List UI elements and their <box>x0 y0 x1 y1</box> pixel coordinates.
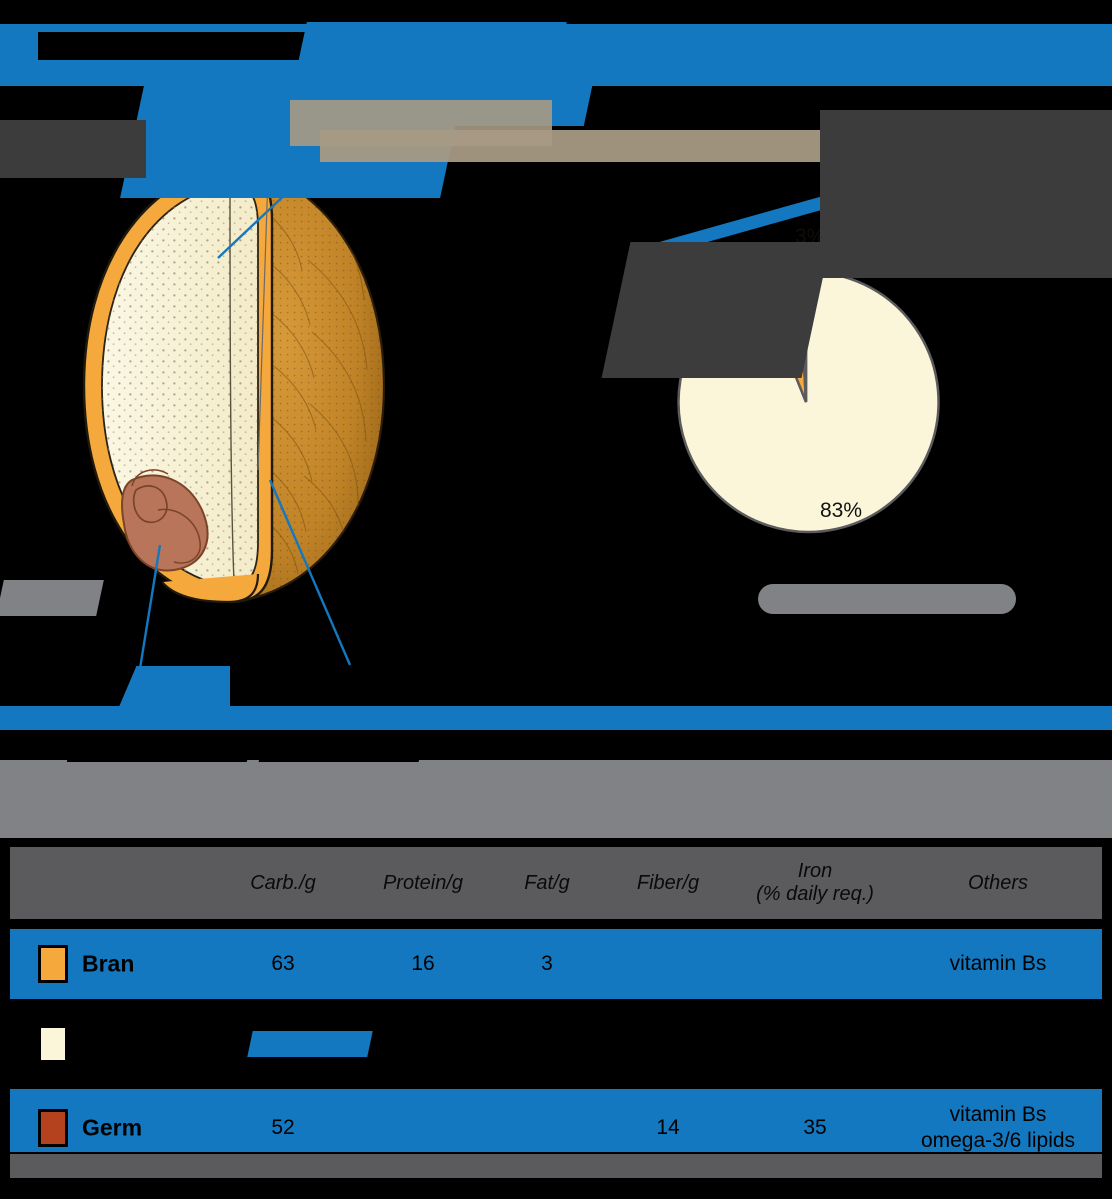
redaction-left-dark <box>0 120 146 178</box>
nutrition-table: Carb./g Protein/g Fat/g Fiber/g Iron (% … <box>8 845 1104 1169</box>
row-label-endosperm: Endosperm <box>82 1031 209 1058</box>
redaction-top-left-text <box>38 32 306 60</box>
table-row[interactable]: Bran 63 16 3 vitamin Bs <box>8 927 1104 1001</box>
column-header-others: Others <box>890 847 1106 919</box>
cell-bran-protein: 16 <box>348 929 498 999</box>
redaction-pie-caption-gray <box>758 584 1016 614</box>
cell-bran-others: vitamin Bs <box>890 951 1106 977</box>
cell-endosperm-protein: 7 <box>348 1009 498 1079</box>
cell-germ-others: vitamin Bs omega-3/6 lipids <box>890 1102 1106 1155</box>
cell-bran-fat: 3 <box>482 929 612 999</box>
legend-swatch-endosperm <box>38 1025 68 1063</box>
pie-label-endosperm: 83% <box>820 499 862 523</box>
redaction-caption-right-text <box>259 730 426 762</box>
legend-swatch-bran <box>38 945 68 983</box>
column-header-protein: Protein/g <box>348 847 498 919</box>
column-header-carb: Carb./g <box>208 847 358 919</box>
infographic-stage: 14% 83% 3% Carb./g Protein/g Fat/g Fiber… <box>0 0 1112 1199</box>
cell-bran-fiber <box>598 929 738 999</box>
cell-bran-iron <box>730 929 900 999</box>
table-row[interactable]: Endosperm 76 7 <box>8 1007 1104 1081</box>
row-label-germ: Germ <box>82 1115 142 1142</box>
cell-germ-others-line1: vitamin Bs <box>890 1102 1106 1128</box>
redaction-right-dark <box>820 110 1112 278</box>
footer-bar <box>8 1152 1104 1180</box>
cell-bran-carb: 63 <box>208 929 358 999</box>
redaction-mid-left-gray <box>0 580 104 616</box>
redaction-caption-left-text <box>67 732 253 762</box>
column-header-fiber: Fiber/g <box>598 847 738 919</box>
cell-endosperm-fat <box>482 1009 612 1079</box>
cell-bran-others-line1: vitamin Bs <box>890 951 1106 977</box>
table-header-row: Carb./g Protein/g Fat/g Fiber/g Iron (% … <box>8 845 1104 921</box>
column-header-fat: Fat/g <box>482 847 612 919</box>
legend-swatch-germ <box>38 1109 68 1147</box>
cell-endosperm-fiber <box>598 1009 738 1079</box>
cell-endosperm-iron <box>730 1009 900 1079</box>
column-header-iron-sub: (% daily req.) <box>756 883 874 906</box>
cell-germ-others-line2: omega-3/6 lipids <box>890 1128 1106 1154</box>
column-header-iron-main: Iron <box>798 860 832 883</box>
redaction-scale-left-dark <box>602 242 831 378</box>
column-header-iron: Iron (% daily req.) <box>730 847 900 919</box>
redaction-gray-band <box>0 760 1112 838</box>
redaction-top-right-blue <box>430 24 1112 86</box>
row-label-bran: Bran <box>82 951 134 978</box>
